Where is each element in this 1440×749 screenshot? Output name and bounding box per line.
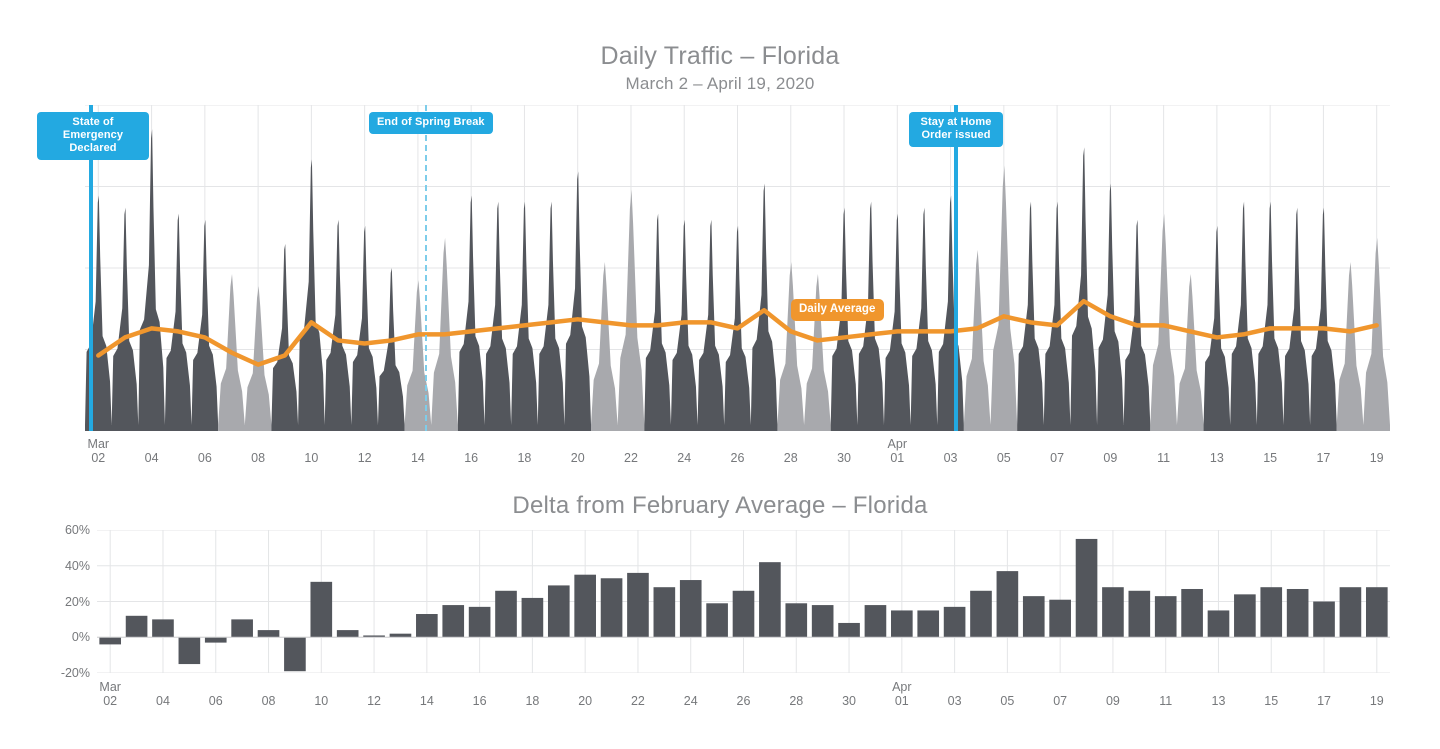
delta-bar xyxy=(469,607,491,637)
x-tick-apr-19: 19 xyxy=(1357,451,1397,465)
delta-bar xyxy=(495,591,517,637)
x-tick-apr-05: 05 xyxy=(987,694,1027,708)
x-tick-mar-08: 08 xyxy=(238,451,278,465)
delta-bar xyxy=(1181,589,1203,637)
annotation-badge-state-of-emergency[interactable]: State of Emergency Declared xyxy=(37,112,149,160)
delta-bar xyxy=(997,571,1019,637)
traffic-dashboard: Daily Traffic – Florida March 2 – April … xyxy=(0,0,1440,749)
delta-chart xyxy=(97,530,1390,673)
y-tick-60: 60% xyxy=(65,524,90,537)
x-tick-mar-02: Mar02 xyxy=(78,437,118,465)
x-tick-day: 24 xyxy=(677,451,691,465)
delta-bar xyxy=(1049,600,1071,638)
x-tick-apr-09: 09 xyxy=(1093,694,1133,708)
x-tick-apr-05: 05 xyxy=(984,451,1024,465)
y-tick-20: 20% xyxy=(65,596,90,609)
delta-bar xyxy=(1287,589,1309,637)
daily-traffic-x-axis: Mar020406081012141618202224262830Apr0103… xyxy=(85,437,1390,467)
x-tick-mar-24: 24 xyxy=(671,694,711,708)
x-tick-apr-07: 07 xyxy=(1037,451,1077,465)
x-tick-mar-18: 18 xyxy=(512,694,552,708)
x-tick-day: 07 xyxy=(1053,694,1067,708)
x-tick-day: 28 xyxy=(784,451,798,465)
x-tick-day: 06 xyxy=(209,694,223,708)
x-tick-day: 06 xyxy=(198,451,212,465)
delta-bar xyxy=(1023,596,1045,637)
x-tick-mar-16: 16 xyxy=(451,451,491,465)
delta-bar xyxy=(1234,594,1256,637)
delta-bar xyxy=(1313,602,1335,638)
delta-chart-title: Delta from February Average – Florida xyxy=(0,492,1440,520)
daily-traffic-plot-area xyxy=(85,105,1390,431)
delta-bar xyxy=(205,637,227,642)
x-tick-day: 08 xyxy=(262,694,276,708)
x-tick-mar-16: 16 xyxy=(460,694,500,708)
delta-bar xyxy=(337,630,359,637)
x-tick-apr-15: 15 xyxy=(1250,451,1290,465)
delta-bar xyxy=(416,614,438,637)
delta-bar xyxy=(574,575,596,638)
x-tick-day: 12 xyxy=(367,694,381,708)
delta-bar xyxy=(680,580,702,637)
x-tick-mar-04: 04 xyxy=(143,694,183,708)
x-tick-mar-06: 06 xyxy=(196,694,236,708)
x-tick-day: 17 xyxy=(1316,451,1330,465)
x-tick-mar-10: 10 xyxy=(291,451,331,465)
delta-bar xyxy=(970,591,992,637)
annotation-badge-stay-at-home[interactable]: Stay at Home Order issued xyxy=(909,112,1003,147)
x-tick-day: 17 xyxy=(1317,694,1331,708)
delta-bar xyxy=(548,585,570,637)
x-tick-day: 15 xyxy=(1263,451,1277,465)
x-tick-apr-01: Apr01 xyxy=(882,680,922,708)
x-tick-day: 26 xyxy=(737,694,751,708)
delta-bar xyxy=(1155,596,1177,637)
delta-bar xyxy=(99,637,121,644)
x-tick-apr-01: Apr01 xyxy=(877,437,917,465)
delta-bar xyxy=(944,607,966,637)
x-tick-day: 12 xyxy=(358,451,372,465)
delta-bar xyxy=(759,562,781,637)
delta-bar xyxy=(126,616,148,637)
delta-bar xyxy=(917,610,939,637)
x-tick-mar-14: 14 xyxy=(407,694,447,708)
x-tick-day: 13 xyxy=(1212,694,1226,708)
x-tick-day: 01 xyxy=(895,694,909,708)
x-tick-apr-19: 19 xyxy=(1357,694,1397,708)
x-tick-day: 03 xyxy=(944,451,958,465)
x-tick-month: Mar xyxy=(78,437,118,451)
x-tick-apr-13: 13 xyxy=(1197,451,1237,465)
delta-bar xyxy=(627,573,649,637)
delta-bar xyxy=(258,630,280,637)
x-tick-mar-20: 20 xyxy=(558,451,598,465)
page-subtitle: March 2 – April 19, 2020 xyxy=(0,74,1440,94)
delta-bar xyxy=(1260,587,1282,637)
x-tick-mar-20: 20 xyxy=(565,694,605,708)
x-tick-mar-30: 30 xyxy=(829,694,869,708)
x-tick-day: 11 xyxy=(1159,694,1172,708)
x-tick-mar-14: 14 xyxy=(398,451,438,465)
x-tick-day: 02 xyxy=(91,451,105,465)
delta-bar xyxy=(522,598,544,637)
delta-bar xyxy=(891,610,913,637)
x-tick-apr-13: 13 xyxy=(1198,694,1238,708)
delta-bar xyxy=(1340,587,1362,637)
x-tick-day: 02 xyxy=(103,694,117,708)
delta-x-axis: Mar020406081012141618202224262830Apr0103… xyxy=(97,680,1390,710)
delta-plot-area xyxy=(97,530,1390,673)
annotation-badge-end-of-spring-break[interactable]: End of Spring Break xyxy=(369,112,493,134)
x-tick-mar-06: 06 xyxy=(185,451,225,465)
x-tick-mar-10: 10 xyxy=(301,694,341,708)
delta-bar xyxy=(706,603,728,637)
delta-bar xyxy=(1366,587,1388,637)
x-tick-mar-04: 04 xyxy=(132,451,172,465)
x-tick-mar-28: 28 xyxy=(771,451,811,465)
x-tick-day: 20 xyxy=(578,694,592,708)
delta-bar xyxy=(1076,539,1098,637)
x-tick-apr-17: 17 xyxy=(1304,694,1344,708)
x-tick-day: 10 xyxy=(304,451,318,465)
x-tick-mar-12: 12 xyxy=(345,451,385,465)
y-tick-neg20: -20% xyxy=(61,667,90,680)
x-tick-day: 16 xyxy=(473,694,487,708)
delta-bar xyxy=(284,637,306,671)
delta-bar xyxy=(310,582,332,637)
delta-bar xyxy=(1129,591,1151,637)
delta-bar xyxy=(785,603,807,637)
delta-bar xyxy=(601,578,623,637)
x-tick-mar-30: 30 xyxy=(824,451,864,465)
x-tick-day: 07 xyxy=(1050,451,1064,465)
x-tick-day: 01 xyxy=(890,451,904,465)
x-tick-day: 13 xyxy=(1210,451,1224,465)
x-tick-day: 05 xyxy=(1000,694,1014,708)
annotation-line-stay-at-home xyxy=(954,105,958,431)
x-tick-day: 24 xyxy=(684,694,698,708)
x-tick-apr-09: 09 xyxy=(1090,451,1130,465)
x-tick-mar-08: 08 xyxy=(249,694,289,708)
delta-bar xyxy=(733,591,755,637)
x-tick-mar-26: 26 xyxy=(724,694,764,708)
x-tick-day: 14 xyxy=(420,694,434,708)
x-tick-day: 26 xyxy=(731,451,745,465)
x-tick-apr-07: 07 xyxy=(1040,694,1080,708)
x-tick-mar-24: 24 xyxy=(664,451,704,465)
x-tick-apr-11: 11 xyxy=(1144,451,1184,465)
delta-bar xyxy=(654,587,676,637)
x-tick-day: 04 xyxy=(145,451,159,465)
x-tick-day: 18 xyxy=(525,694,539,708)
delta-bar xyxy=(1208,610,1230,637)
y-tick-40: 40% xyxy=(65,560,90,573)
x-tick-mar-02: Mar02 xyxy=(90,680,130,708)
delta-bar xyxy=(1102,587,1124,637)
x-tick-day: 09 xyxy=(1103,451,1117,465)
delta-bar xyxy=(179,637,201,664)
x-tick-mar-28: 28 xyxy=(776,694,816,708)
delta-y-axis: 60%40%20%0%-20% xyxy=(20,524,90,684)
delta-bar xyxy=(390,634,412,638)
x-tick-day: 10 xyxy=(314,694,328,708)
x-tick-day: 15 xyxy=(1264,694,1278,708)
x-tick-day: 09 xyxy=(1106,694,1120,708)
annotation-line-end-of-spring-break xyxy=(425,105,427,431)
legend-badge-daily-average[interactable]: Daily Average xyxy=(791,299,884,321)
x-tick-day: 18 xyxy=(517,451,531,465)
x-tick-day: 14 xyxy=(411,451,425,465)
x-tick-month: Mar xyxy=(90,680,130,694)
x-tick-day: 03 xyxy=(948,694,962,708)
x-tick-apr-11: 11 xyxy=(1146,694,1186,708)
x-tick-apr-03: 03 xyxy=(931,451,971,465)
x-tick-day: 08 xyxy=(251,451,265,465)
x-tick-month: Apr xyxy=(877,437,917,451)
x-tick-apr-03: 03 xyxy=(935,694,975,708)
x-tick-apr-17: 17 xyxy=(1303,451,1343,465)
y-tick-0: 0% xyxy=(72,631,90,644)
x-tick-mar-18: 18 xyxy=(504,451,544,465)
page-title: Daily Traffic – Florida xyxy=(0,42,1440,71)
x-tick-day: 28 xyxy=(789,694,803,708)
x-tick-mar-26: 26 xyxy=(718,451,758,465)
x-tick-day: 22 xyxy=(624,451,638,465)
x-tick-day: 19 xyxy=(1370,451,1384,465)
x-tick-day: 22 xyxy=(631,694,645,708)
x-tick-day: 30 xyxy=(842,694,856,708)
x-tick-month: Apr xyxy=(882,680,922,694)
x-tick-mar-22: 22 xyxy=(618,694,658,708)
x-tick-mar-22: 22 xyxy=(611,451,651,465)
delta-bar xyxy=(865,605,887,637)
x-tick-day: 30 xyxy=(837,451,851,465)
delta-bar xyxy=(838,623,860,637)
x-tick-day: 05 xyxy=(997,451,1011,465)
x-tick-day: 04 xyxy=(156,694,170,708)
delta-bar xyxy=(812,605,834,637)
delta-bar xyxy=(231,619,253,637)
x-tick-day: 11 xyxy=(1157,451,1170,465)
x-tick-apr-15: 15 xyxy=(1251,694,1291,708)
delta-bar xyxy=(442,605,464,637)
x-tick-day: 20 xyxy=(571,451,585,465)
delta-bar xyxy=(152,619,174,637)
x-tick-mar-12: 12 xyxy=(354,694,394,708)
daily-traffic-chart xyxy=(85,105,1390,431)
x-tick-day: 16 xyxy=(464,451,478,465)
x-tick-day: 19 xyxy=(1370,694,1384,708)
